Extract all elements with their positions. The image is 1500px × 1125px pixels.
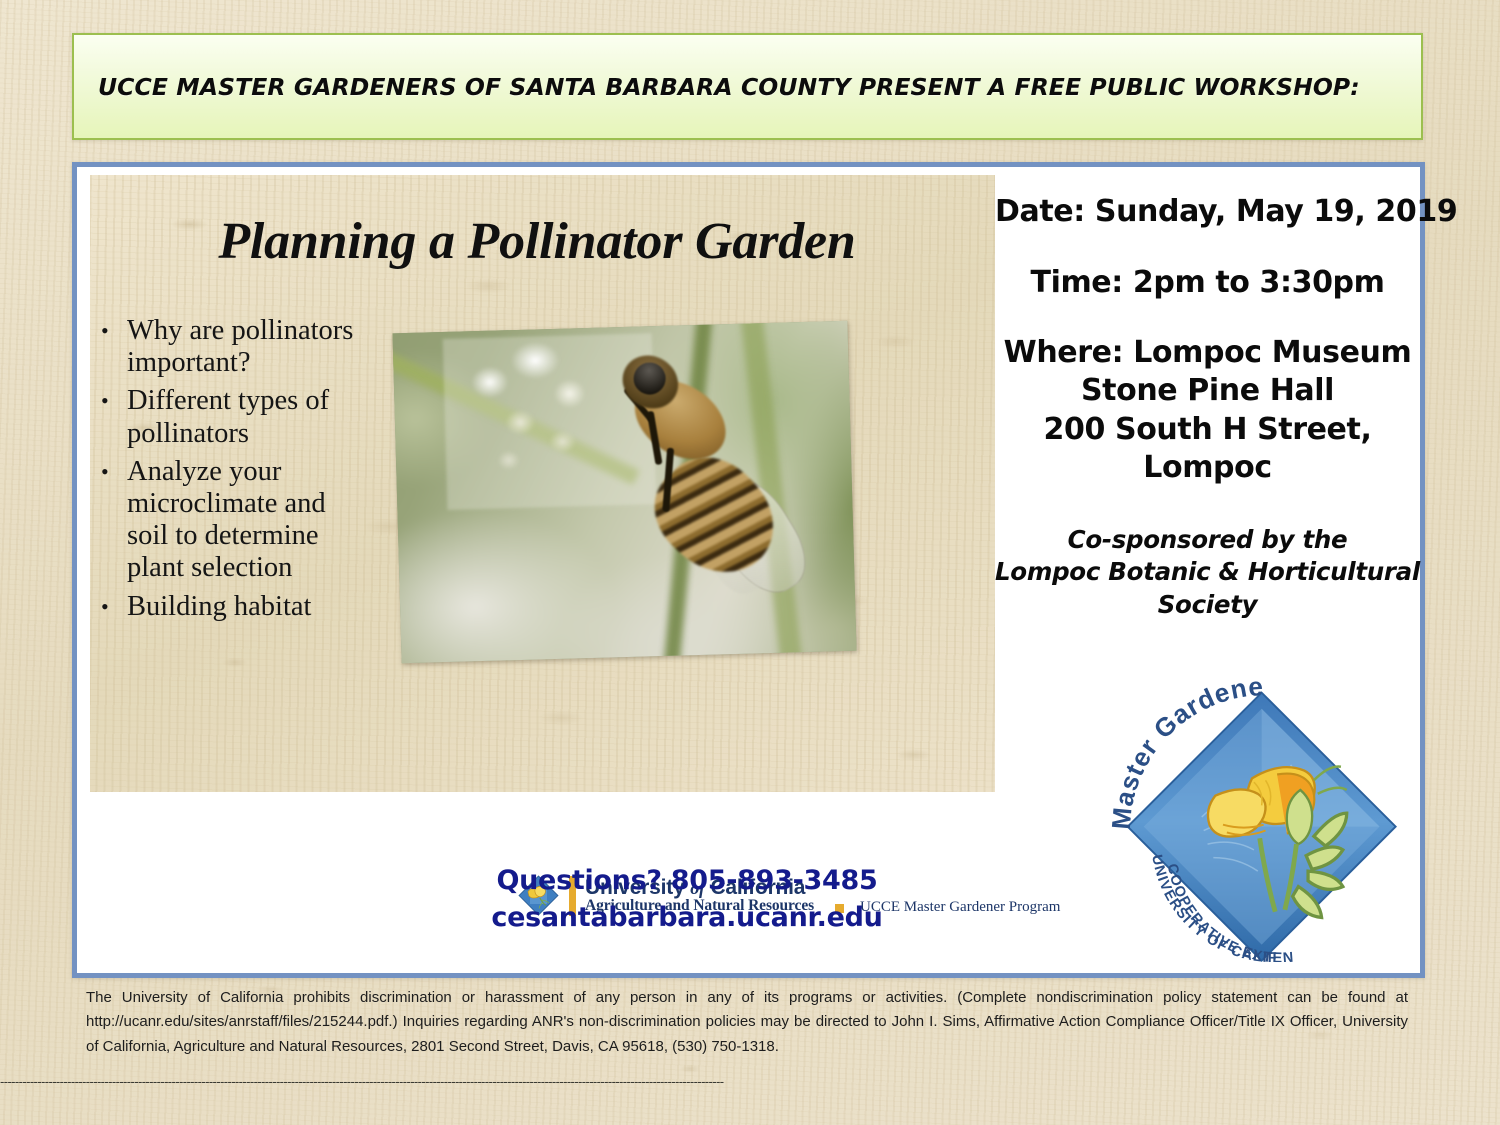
location-line: Lompoc xyxy=(995,449,1420,487)
event-location: Where: Lompoc Museum Stone Pine Hall 200… xyxy=(995,334,1420,488)
list-item-label: Analyze your microclimate and soil to de… xyxy=(127,456,372,585)
topics-list: • Why are pollinators important? • Diffe… xyxy=(97,315,372,629)
cosponsor-line: Society xyxy=(995,589,1420,622)
cosponsor-line: Co-sponsored by the xyxy=(995,524,1420,557)
list-item-label: Different types of pollinators xyxy=(127,385,372,449)
banner-title: UCCE MASTER GARDENERS OF SANTA BARBARA C… xyxy=(74,73,1374,101)
list-item: • Why are pollinators important? xyxy=(97,315,372,379)
list-item-label: Why are pollinators important? xyxy=(127,315,372,379)
contact-block: Questions? 805-893-3485 cesantabarbara.u… xyxy=(377,862,997,937)
location-line: 200 South H Street, xyxy=(995,411,1420,449)
location-line: Where: Lompoc Museum xyxy=(995,334,1420,372)
nondiscrimination-disclaimer: The University of California prohibits d… xyxy=(86,986,1408,1059)
bullet-icon: • xyxy=(97,385,127,449)
event-time: Time: 2pm to 3:30pm xyxy=(995,263,1420,302)
list-item: • Different types of pollinators xyxy=(97,385,372,449)
questions-phone: Questions? 805-893-3485 xyxy=(377,862,997,899)
bullet-icon: • xyxy=(97,456,127,585)
bee-on-flower-photo xyxy=(392,321,856,664)
bullet-icon: • xyxy=(97,591,127,623)
list-item: • Analyze your microclimate and soil to … xyxy=(97,456,372,585)
cosponsor-block: Co-sponsored by the Lompoc Botanic & Hor… xyxy=(995,524,1420,622)
master-gardener-diamond-logo: Master Gardener UNIVERSITY OF CALIFORNIA… xyxy=(1107,672,1397,962)
flyer-frame: Planning a Pollinator Garden • Why are p… xyxy=(72,162,1425,978)
list-item: • Building habitat xyxy=(97,591,372,623)
workshop-banner: UCCE MASTER GARDENERS OF SANTA BARBARA C… xyxy=(72,33,1423,140)
dashed-separator: ----------------------------------------… xyxy=(0,1072,1500,1118)
list-item-label: Building habitat xyxy=(127,591,372,623)
event-details: Date: Sunday, May 19, 2019 Time: 2pm to … xyxy=(995,192,1420,622)
location-line: Stone Pine Hall xyxy=(995,372,1420,410)
page-title: Planning a Pollinator Garden xyxy=(137,215,937,270)
questions-website[interactable]: cesantabarbara.ucanr.edu xyxy=(377,899,997,936)
cosponsor-line: Lompoc Botanic & Horticultural xyxy=(995,556,1420,589)
bullet-icon: • xyxy=(97,315,127,379)
event-date: Date: Sunday, May 19, 2019 xyxy=(995,192,1420,231)
